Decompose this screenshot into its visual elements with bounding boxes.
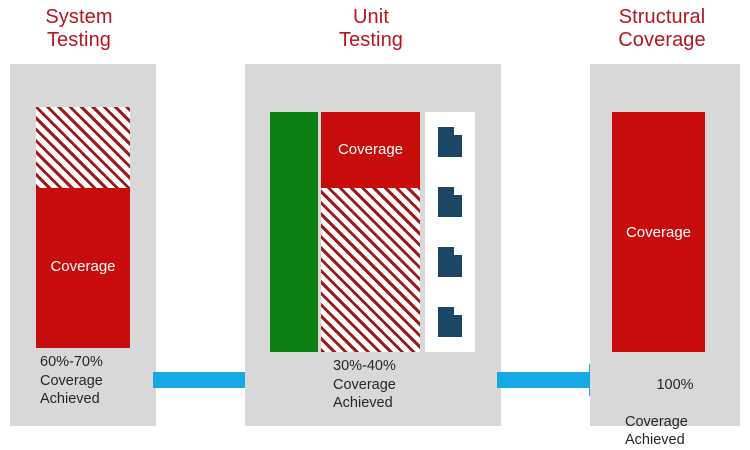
document-icon-1 (437, 126, 463, 158)
panel-title-unit-testing: Unit Testing (295, 6, 447, 52)
caption-structural-coverage: 100% Coverage Achieved (625, 357, 725, 450)
panel-structural-coverage: Coverage 100% Coverage Achieved (590, 64, 740, 426)
bar-system-testing-uncovered (36, 107, 130, 188)
caption-system-testing: 60%-70% Coverage Achieved (40, 353, 150, 409)
document-column-unit-testing (425, 112, 475, 352)
panel-title-system-testing: System Testing (4, 6, 154, 52)
panel-system-testing: Coverage 60%-70% Coverage Achieved (10, 64, 156, 426)
bar-label-system-testing-coverage: Coverage (36, 258, 130, 275)
bar-system-testing-coverage: Coverage (36, 188, 130, 348)
caption-structural-coverage-rest: Coverage Achieved (625, 414, 688, 449)
bar-unit-testing-coverage: Coverage (321, 112, 420, 188)
bar-unit-testing-uncovered (321, 188, 420, 352)
caption-unit-testing: 30%-40% Coverage Achieved (333, 357, 453, 413)
document-icon-4 (437, 306, 463, 338)
bar-label-structural-coverage: Coverage (612, 224, 705, 241)
diagram-canvas: System Testing Coverage 60%-70% Coverage… (0, 0, 750, 450)
panel-title-structural-coverage: Structural Coverage (583, 6, 741, 52)
caption-structural-coverage-percent: 100% (625, 376, 725, 395)
bar-unit-testing-tests (270, 112, 318, 352)
panel-unit-testing: Coverage (245, 64, 501, 426)
document-icon-3 (437, 246, 463, 278)
bar-label-unit-testing-coverage: Coverage (321, 141, 420, 158)
bar-structural-coverage: Coverage (612, 112, 705, 352)
document-icon-2 (437, 186, 463, 218)
